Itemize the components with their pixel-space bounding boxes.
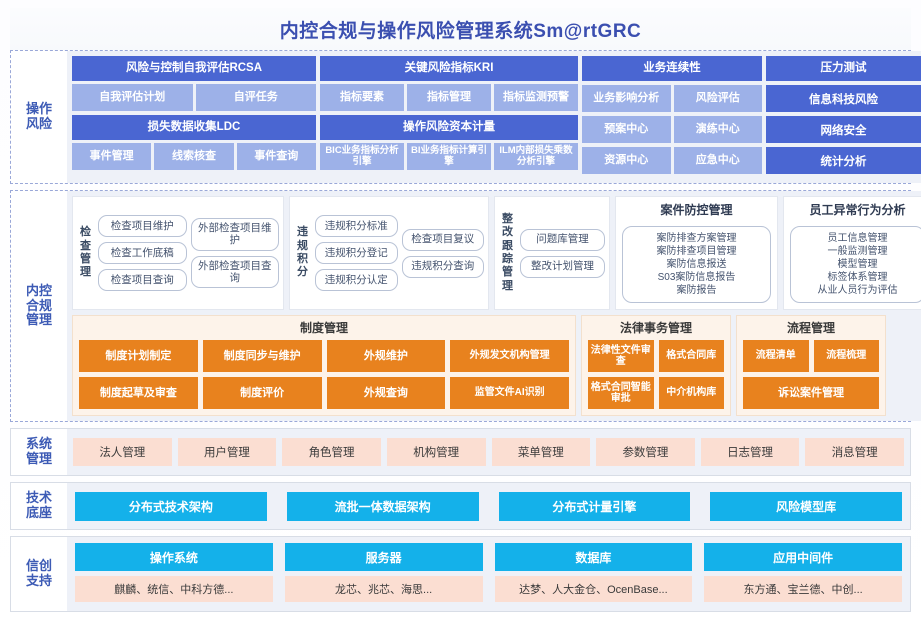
xinchuang-sub[interactable]: 麒麟、统信、中科方德... (75, 576, 273, 602)
box-violation-score: 违规积分 违规积分标准 违规积分登记 违规积分认定 检查项目复议 违规积分查询 (289, 196, 489, 310)
bcm-row-2: 预案中心 演练中心 (582, 116, 762, 143)
pill-item[interactable]: 问题库管理 (520, 229, 605, 251)
section-label-tech-base: 技术底座 (11, 483, 67, 529)
internal-control-bottom-row: 制度管理 制度计划制定 制度同步与维护 外规维护 外规发文机构管理 制度起草及审… (72, 315, 921, 416)
violation-score-column-2: 检查项目复议 违规积分查询 (402, 202, 485, 304)
section-label-xinchuang: 信创支持 (11, 537, 67, 611)
list-item: 案防信息报送 (627, 258, 766, 271)
group-ldc: 损失数据收集LDC 事件管理 线索核查 事件查询 (72, 115, 316, 170)
box-title-policy-management: 制度管理 (79, 319, 569, 336)
orange-item[interactable]: 制度同步与维护 (203, 340, 322, 372)
section-label-internal-control: 内控合规管理 (11, 191, 67, 421)
column-bcm: 业务连续性 业务影响分析 风险评估 预案中心 演练中心 资源中心 应急中心 (582, 56, 762, 178)
sub-item[interactable]: 业务影响分析 (582, 85, 671, 112)
sub-item[interactable]: 线索核查 (154, 143, 233, 170)
pill-item[interactable]: 检查工作底稿 (98, 242, 187, 264)
orange-item[interactable]: 外规发文机构管理 (450, 340, 569, 372)
group-kri: 关键风险指标KRI 指标要素 指标管理 指标监测预警 (320, 56, 578, 111)
orange-item[interactable]: 格式合同库 (659, 340, 725, 372)
group-head-rcsa[interactable]: 风险与控制自我评估RCSA (72, 56, 316, 81)
orange-item[interactable]: 法律性文件审查 (588, 340, 654, 372)
sub-item[interactable]: 自评任务 (196, 84, 317, 111)
orange-item[interactable]: 监管文件AI识别 (450, 377, 569, 409)
policy-management-grid: 制度计划制定 制度同步与维护 外规维护 外规发文机构管理 制度起草及审查 制度评… (79, 340, 569, 409)
case-prevention-items[interactable]: 案防排查方案管理 案防排查项目管理 案防信息报送 S03案防信息报告 案防报告 (622, 226, 771, 303)
check-management-column-1: 检查项目维护 检查工作底稿 检查项目查询 (98, 202, 187, 304)
box-check-management: 检查管理 检查项目维护 检查工作底稿 检查项目查询 外部检查项目维护 外部检查项… (72, 196, 284, 310)
sub-item[interactable]: 指标管理 (407, 84, 491, 111)
xinchuang-head[interactable]: 数据库 (495, 543, 693, 571)
tech-item[interactable]: 风险模型库 (710, 492, 902, 521)
rectification-items: 问题库管理 整改计划管理 (520, 202, 605, 304)
box-title-legal-affairs: 法律事务管理 (588, 319, 724, 336)
system-item[interactable]: 日志管理 (701, 438, 800, 466)
pill-item[interactable]: 检查项目查询 (98, 269, 187, 291)
system-architecture-diagram: 内控合规与操作风险管理系统Sm@rtGRC 操作风险 风险与控制自我评估RCSA… (0, 0, 921, 640)
section-label-text: 系统管理 (26, 437, 52, 467)
list-item: 案防排查方案管理 (627, 232, 766, 245)
section-label-system-management: 系统管理 (11, 429, 67, 475)
section-internal-control: 内控合规管理 检查管理 检查项目维护 检查工作底稿 检查项目查询 外部检查项目维… (10, 190, 911, 422)
column-stress: 压力测试 信息科技风险 网络安全 统计分析 (766, 56, 921, 178)
system-item[interactable]: 消息管理 (805, 438, 904, 466)
xinchuang-head[interactable]: 服务器 (285, 543, 483, 571)
group-capital: 操作风险资本计量 BIC业务指标分析引擎 BI业务指标计算引擎 ILM内部损失乘… (320, 115, 578, 170)
box-title-case-prevention: 案件防控管理 (622, 201, 771, 218)
section-label-text: 技术底座 (26, 491, 52, 521)
process-management-grid: 流程清单 流程梳理 诉讼案件管理 (743, 340, 879, 409)
section-label-text: 内控合规管理 (26, 284, 52, 329)
xinchuang-column: 服务器 龙芯、兆芯、海思... (285, 543, 483, 605)
orange-item[interactable]: 中介机构库 (659, 377, 725, 409)
system-item[interactable]: 参数管理 (596, 438, 695, 466)
tech-base-body: 分布式技术架构 流批一体数据架构 分布式计量引擎 风险模型库 (67, 483, 910, 529)
stress-item[interactable]: 压力测试 (766, 56, 921, 81)
check-management-column-2: 外部检查项目维护 外部检查项目查询 (191, 202, 280, 304)
box-legal-affairs: 法律事务管理 法律性文件审查 格式合同库 格式合同智能审批 中介机构库 (581, 315, 731, 416)
box-policy-management: 制度管理 制度计划制定 制度同步与维护 外规维护 外规发文机构管理 制度起草及审… (72, 315, 576, 416)
group-head-capital[interactable]: 操作风险资本计量 (320, 115, 578, 140)
box-title-staff-behavior: 员工异常行为分析 (790, 201, 921, 218)
orange-item[interactable]: 制度起草及审查 (79, 377, 198, 409)
system-item[interactable]: 用户管理 (178, 438, 277, 466)
system-item[interactable]: 角色管理 (282, 438, 381, 466)
box-process-management: 流程管理 流程清单 流程梳理 诉讼案件管理 (736, 315, 886, 416)
group-subs-kri: 指标要素 指标管理 指标监测预警 (320, 84, 578, 111)
system-item[interactable]: 机构管理 (387, 438, 486, 466)
list-item: 案防排查项目管理 (627, 245, 766, 258)
xinchuang-sub[interactable]: 东方通、宝兰德、中创... (704, 576, 902, 602)
sub-item[interactable]: 资源中心 (582, 147, 671, 174)
xinchuang-sub[interactable]: 达梦、人大金仓、OcenBase... (495, 576, 693, 602)
title-bar: 内控合规与操作风险管理系统Sm@rtGRC (10, 8, 911, 50)
xinchuang-head[interactable]: 操作系统 (75, 543, 273, 571)
stress-item[interactable]: 网络安全 (766, 116, 921, 143)
orange-item[interactable]: 外规查询 (327, 377, 446, 409)
section-label-text: 操作风险 (26, 102, 52, 132)
vertical-label-rectification: 整改跟踪管理 (499, 202, 516, 304)
orange-item[interactable]: 诉讼案件管理 (743, 377, 879, 409)
list-item: 从业人员行为评估 (795, 284, 920, 297)
section-label-operation-risk: 操作风险 (11, 51, 67, 183)
group-subs-rcsa: 自我评估计划 自评任务 (72, 84, 316, 111)
list-item: 一般监测管理 (795, 245, 920, 258)
list-item: 模型管理 (795, 258, 920, 271)
group-head-bcm[interactable]: 业务连续性 (582, 56, 762, 81)
orange-item[interactable]: 外规维护 (327, 340, 446, 372)
list-item: 案防报告 (627, 284, 766, 297)
box-staff-behavior: 员工异常行为分析 员工信息管理 一般监测管理 模型管理 标签体系管理 从业人员行… (783, 196, 921, 310)
sub-item[interactable]: 应急中心 (674, 147, 763, 174)
section-operation-risk: 操作风险 风险与控制自我评估RCSA 自我评估计划 自评任务 损失数据收集LDC… (10, 50, 911, 184)
operation-risk-body: 风险与控制自我评估RCSA 自我评估计划 自评任务 损失数据收集LDC 事件管理… (67, 51, 921, 183)
vertical-label-violation-score: 违规积分 (294, 202, 311, 304)
column-rcsa-ldc: 风险与控制自我评估RCSA 自我评估计划 自评任务 损失数据收集LDC 事件管理… (72, 56, 316, 178)
sub-item[interactable]: BI业务指标计算引擎 (407, 143, 491, 170)
sub-item[interactable]: 指标要素 (320, 84, 404, 111)
list-item: S03案防信息报告 (627, 271, 766, 284)
pill-item[interactable]: 整改计划管理 (520, 256, 605, 278)
bcm-row-1: 业务影响分析 风险评估 (582, 85, 762, 112)
orange-item[interactable]: 流程梳理 (814, 340, 880, 372)
orange-item[interactable]: 格式合同智能审批 (588, 377, 654, 409)
pill-item[interactable]: 检查项目复议 (402, 229, 485, 251)
tech-item[interactable]: 分布式技术架构 (75, 492, 267, 521)
page-title: 内控合规与操作风险管理系统Sm@rtGRC (280, 16, 642, 43)
sub-item[interactable]: 事件查询 (237, 143, 316, 170)
group-subs-ldc: 事件管理 线索核查 事件查询 (72, 143, 316, 170)
system-management-body: 法人管理 用户管理 角色管理 机构管理 菜单管理 参数管理 日志管理 消息管理 (67, 429, 910, 475)
sub-item[interactable]: 演练中心 (674, 116, 763, 143)
xinchuang-head[interactable]: 应用中间件 (704, 543, 902, 571)
xinchuang-body: 操作系统 麒麟、统信、中科方德... 服务器 龙芯、兆芯、海思... 数据库 达… (67, 537, 910, 611)
column-kri-capital: 关键风险指标KRI 指标要素 指标管理 指标监测预警 操作风险资本计量 BIC业… (320, 56, 578, 178)
pill-item[interactable]: 违规积分标准 (315, 215, 398, 237)
xinchuang-column: 操作系统 麒麟、统信、中科方德... (75, 543, 273, 605)
xinchuang-column: 应用中间件 东方通、宝兰德、中创... (704, 543, 902, 605)
group-rcsa: 风险与控制自我评估RCSA 自我评估计划 自评任务 (72, 56, 316, 111)
legal-affairs-grid: 法律性文件审查 格式合同库 格式合同智能审批 中介机构库 (588, 340, 724, 409)
pill-item[interactable]: 外部检查项目维护 (191, 218, 280, 250)
group-subs-capital: BIC业务指标分析引擎 BI业务指标计算引擎 ILM内部损失乘数分析引擎 (320, 143, 578, 170)
tech-item[interactable]: 分布式计量引擎 (499, 492, 691, 521)
pill-item[interactable]: 违规积分登记 (315, 242, 398, 264)
section-label-text: 信创支持 (26, 559, 52, 589)
staff-behavior-items[interactable]: 员工信息管理 一般监测管理 模型管理 标签体系管理 从业人员行为评估 (790, 226, 921, 303)
list-item: 员工信息管理 (795, 232, 920, 245)
orange-item[interactable]: 制度计划制定 (79, 340, 198, 372)
violation-score-column-1: 违规积分标准 违规积分登记 违规积分认定 (315, 202, 398, 304)
sub-item[interactable]: 事件管理 (72, 143, 151, 170)
system-item[interactable]: 菜单管理 (492, 438, 591, 466)
vertical-label-check-management: 检查管理 (77, 202, 94, 304)
box-case-prevention: 案件防控管理 案防排查方案管理 案防排查项目管理 案防信息报送 S03案防信息报… (615, 196, 778, 310)
orange-item[interactable]: 制度评价 (203, 377, 322, 409)
stress-item[interactable]: 统计分析 (766, 147, 921, 174)
xinchuang-sub[interactable]: 龙芯、兆芯、海思... (285, 576, 483, 602)
tech-item[interactable]: 流批一体数据架构 (287, 492, 479, 521)
stress-item[interactable]: 信息科技风险 (766, 85, 921, 112)
pill-item[interactable]: 外部检查项目查询 (191, 256, 280, 288)
sub-item[interactable]: 自我评估计划 (72, 84, 193, 111)
sub-item[interactable]: 预案中心 (582, 116, 671, 143)
sub-item[interactable]: 风险评估 (674, 85, 763, 112)
system-item[interactable]: 法人管理 (73, 438, 172, 466)
sub-item[interactable]: 指标监测预警 (494, 84, 578, 111)
list-item: 标签体系管理 (795, 271, 920, 284)
pill-item[interactable]: 检查项目维护 (98, 215, 187, 237)
group-head-ldc[interactable]: 损失数据收集LDC (72, 115, 316, 140)
sub-item[interactable]: BIC业务指标分析引擎 (320, 143, 404, 170)
orange-item[interactable]: 流程清单 (743, 340, 809, 372)
box-title-process-management: 流程管理 (743, 319, 879, 336)
internal-control-body: 检查管理 检查项目维护 检查工作底稿 检查项目查询 外部检查项目维护 外部检查项… (67, 191, 921, 421)
pill-item[interactable]: 违规积分查询 (402, 256, 485, 278)
box-rectification-tracking: 整改跟踪管理 问题库管理 整改计划管理 (494, 196, 610, 310)
group-head-kri[interactable]: 关键风险指标KRI (320, 56, 578, 81)
section-system-management: 系统管理 法人管理 用户管理 角色管理 机构管理 菜单管理 参数管理 日志管理 … (10, 428, 911, 476)
xinchuang-column: 数据库 达梦、人大金仓、OcenBase... (495, 543, 693, 605)
section-tech-base: 技术底座 分布式技术架构 流批一体数据架构 分布式计量引擎 风险模型库 (10, 482, 911, 530)
bcm-row-3: 资源中心 应急中心 (582, 147, 762, 174)
sub-item[interactable]: ILM内部损失乘数分析引擎 (494, 143, 578, 170)
internal-control-top-row: 检查管理 检查项目维护 检查工作底稿 检查项目查询 外部检查项目维护 外部检查项… (72, 196, 921, 310)
pill-item[interactable]: 违规积分认定 (315, 269, 398, 291)
section-xinchuang-support: 信创支持 操作系统 麒麟、统信、中科方德... 服务器 龙芯、兆芯、海思... … (10, 536, 911, 612)
